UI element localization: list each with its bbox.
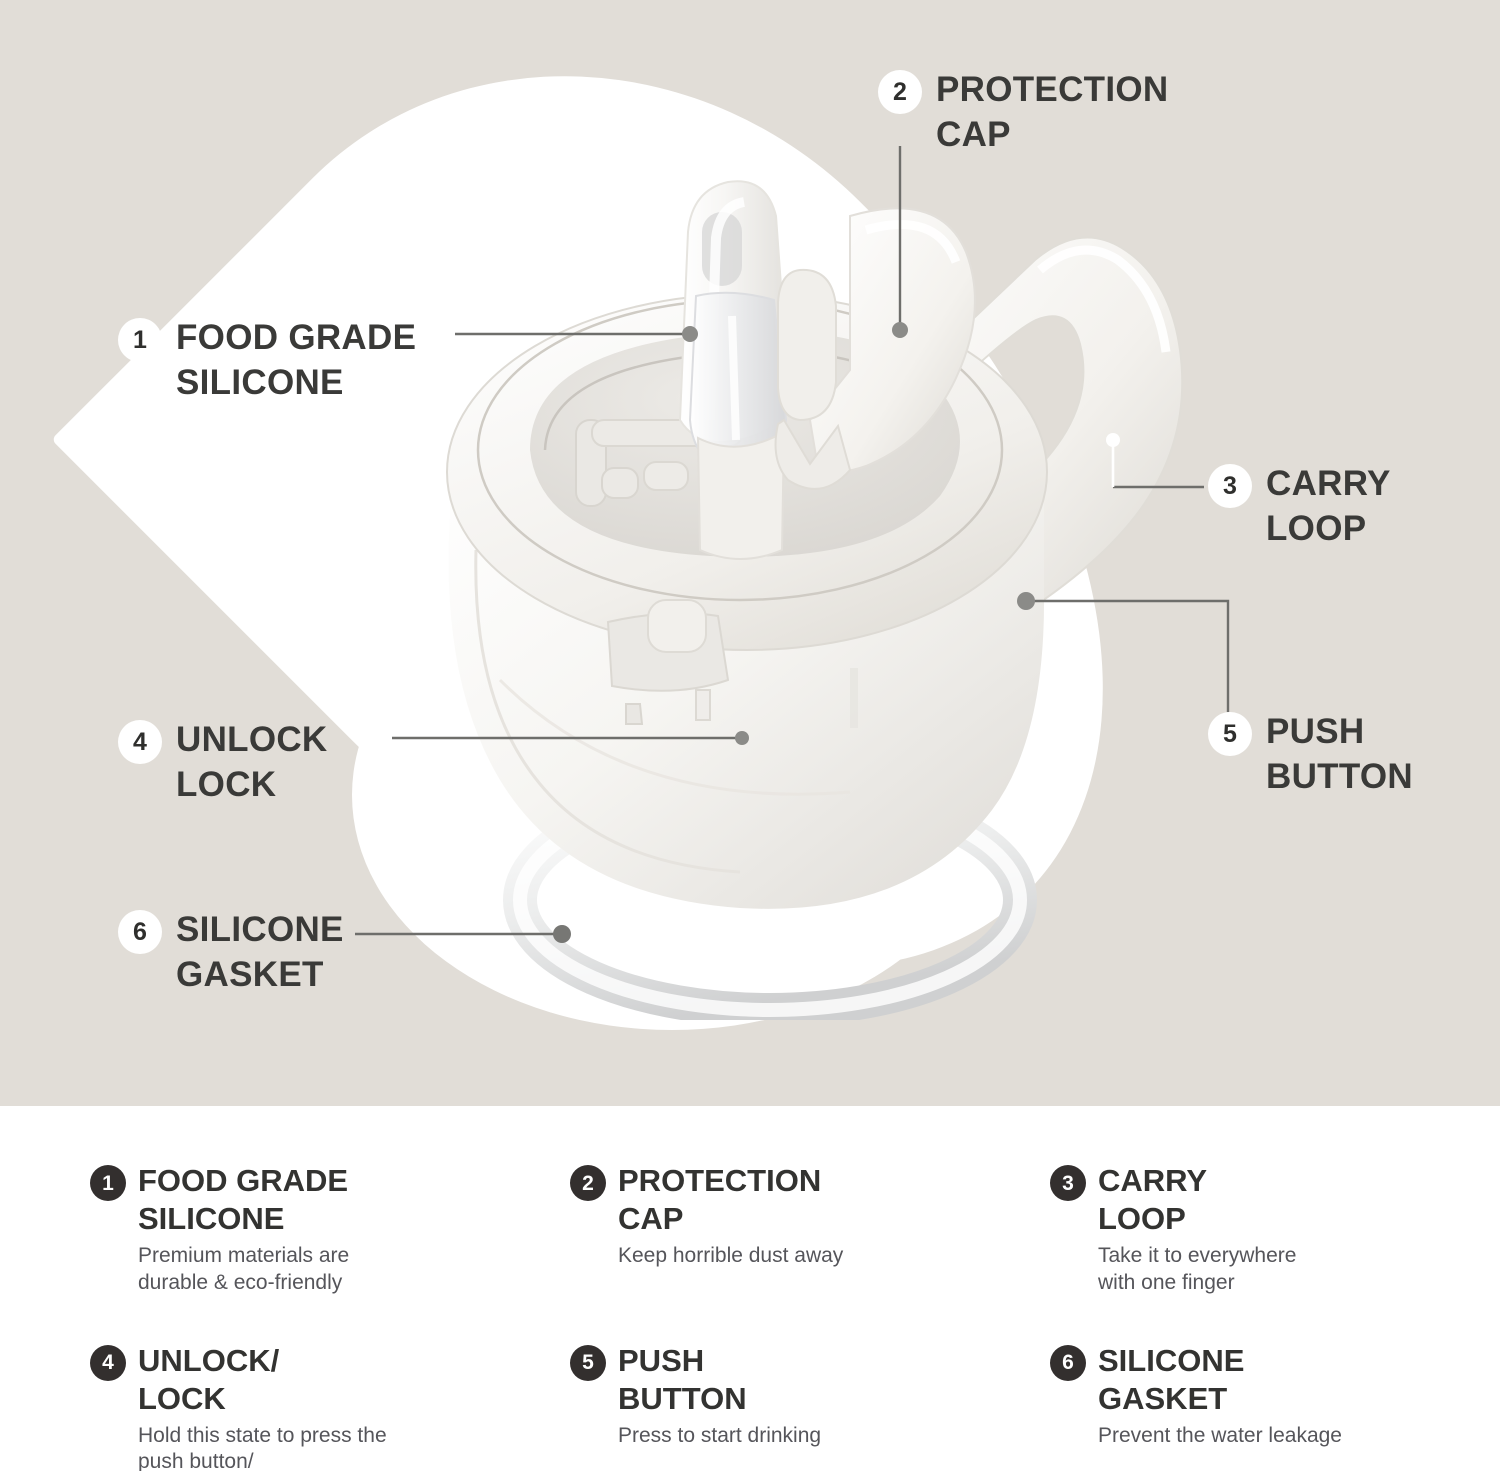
legend-item-food-grade-silicone: 1 FOOD GRADE SILICONE Premium materials … [90,1162,570,1296]
legend-badge-5: 5 [570,1345,606,1381]
legend-title-4: UNLOCK/ LOCK [138,1342,390,1418]
legend-description-3: Take it to everywhere with one finger [1098,1243,1296,1296]
legend-description-5: Press to start drinking [618,1423,821,1449]
callout-push-button: 5 PUSH BUTTON [1208,710,1413,800]
legend-description-2: Keep horrible dust away [618,1243,843,1269]
legend-description-6: Prevent the water leakage [1098,1423,1342,1449]
callout-label-5: PUSH BUTTON [1266,710,1413,800]
callout-protection-cap: 2 PROTECTION CAP [878,68,1168,158]
feature-legend-grid: 1 FOOD GRADE SILICONE Premium materials … [90,1162,1450,1471]
legend-description-1: Premium materials are durable & eco-frie… [138,1243,349,1296]
callout-label-6: SILICONE GASKET [176,908,344,998]
legend-badge-4: 4 [90,1345,126,1381]
callout-badge-4: 4 [118,720,162,764]
callout-badge-6: 6 [118,910,162,954]
callout-silicone-gasket: 6 SILICONE GASKET [118,908,344,998]
feature-legend-panel: 1 FOOD GRADE SILICONE Premium materials … [0,1106,1500,1471]
callout-badge-1: 1 [118,318,162,362]
hero-diagram-panel: 1 FOOD GRADE SILICONE 2 PROTECTION CAP 3… [0,0,1500,1106]
callout-badge-5: 5 [1208,712,1252,756]
legend-badge-2: 2 [570,1165,606,1201]
legend-badge-3: 3 [1050,1165,1086,1201]
callout-unlock-lock: 4 UNLOCK LOCK [118,718,328,808]
callout-label-2: PROTECTION CAP [936,68,1168,158]
legend-title-5: PUSH BUTTON [618,1342,821,1418]
callout-carry-loop: 3 CARRY LOOP [1208,462,1391,552]
callout-label-1: FOOD GRADE SILICONE [176,316,416,406]
legend-badge-6: 6 [1050,1345,1086,1381]
product-infographic-page: 1 FOOD GRADE SILICONE 2 PROTECTION CAP 3… [0,0,1500,1471]
legend-title-2: PROTECTION CAP [618,1162,843,1238]
legend-item-push-button: 5 PUSH BUTTON Press to start drinking [570,1342,1050,1471]
legend-description-4: Hold this state to press the push button… [138,1423,390,1471]
legend-item-protection-cap: 2 PROTECTION CAP Keep horrible dust away [570,1162,1050,1296]
legend-title-1: FOOD GRADE SILICONE [138,1162,349,1238]
callout-label-3: CARRY LOOP [1266,462,1391,552]
legend-badge-1: 1 [90,1165,126,1201]
legend-item-unlock-lock: 4 UNLOCK/ LOCK Hold this state to press … [90,1342,570,1471]
callout-food-grade-silicone: 1 FOOD GRADE SILICONE [118,316,416,406]
legend-item-carry-loop: 3 CARRY LOOP Take it to everywhere with … [1050,1162,1450,1296]
callout-badge-3: 3 [1208,464,1252,508]
legend-title-3: CARRY LOOP [1098,1162,1296,1238]
product-image-water-bottle-lid [380,120,1240,1020]
legend-item-silicone-gasket: 6 SILICONE GASKET Prevent the water leak… [1050,1342,1450,1471]
callout-label-4: UNLOCK LOCK [176,718,328,808]
callout-badge-2: 2 [878,70,922,114]
legend-title-6: SILICONE GASKET [1098,1342,1342,1418]
